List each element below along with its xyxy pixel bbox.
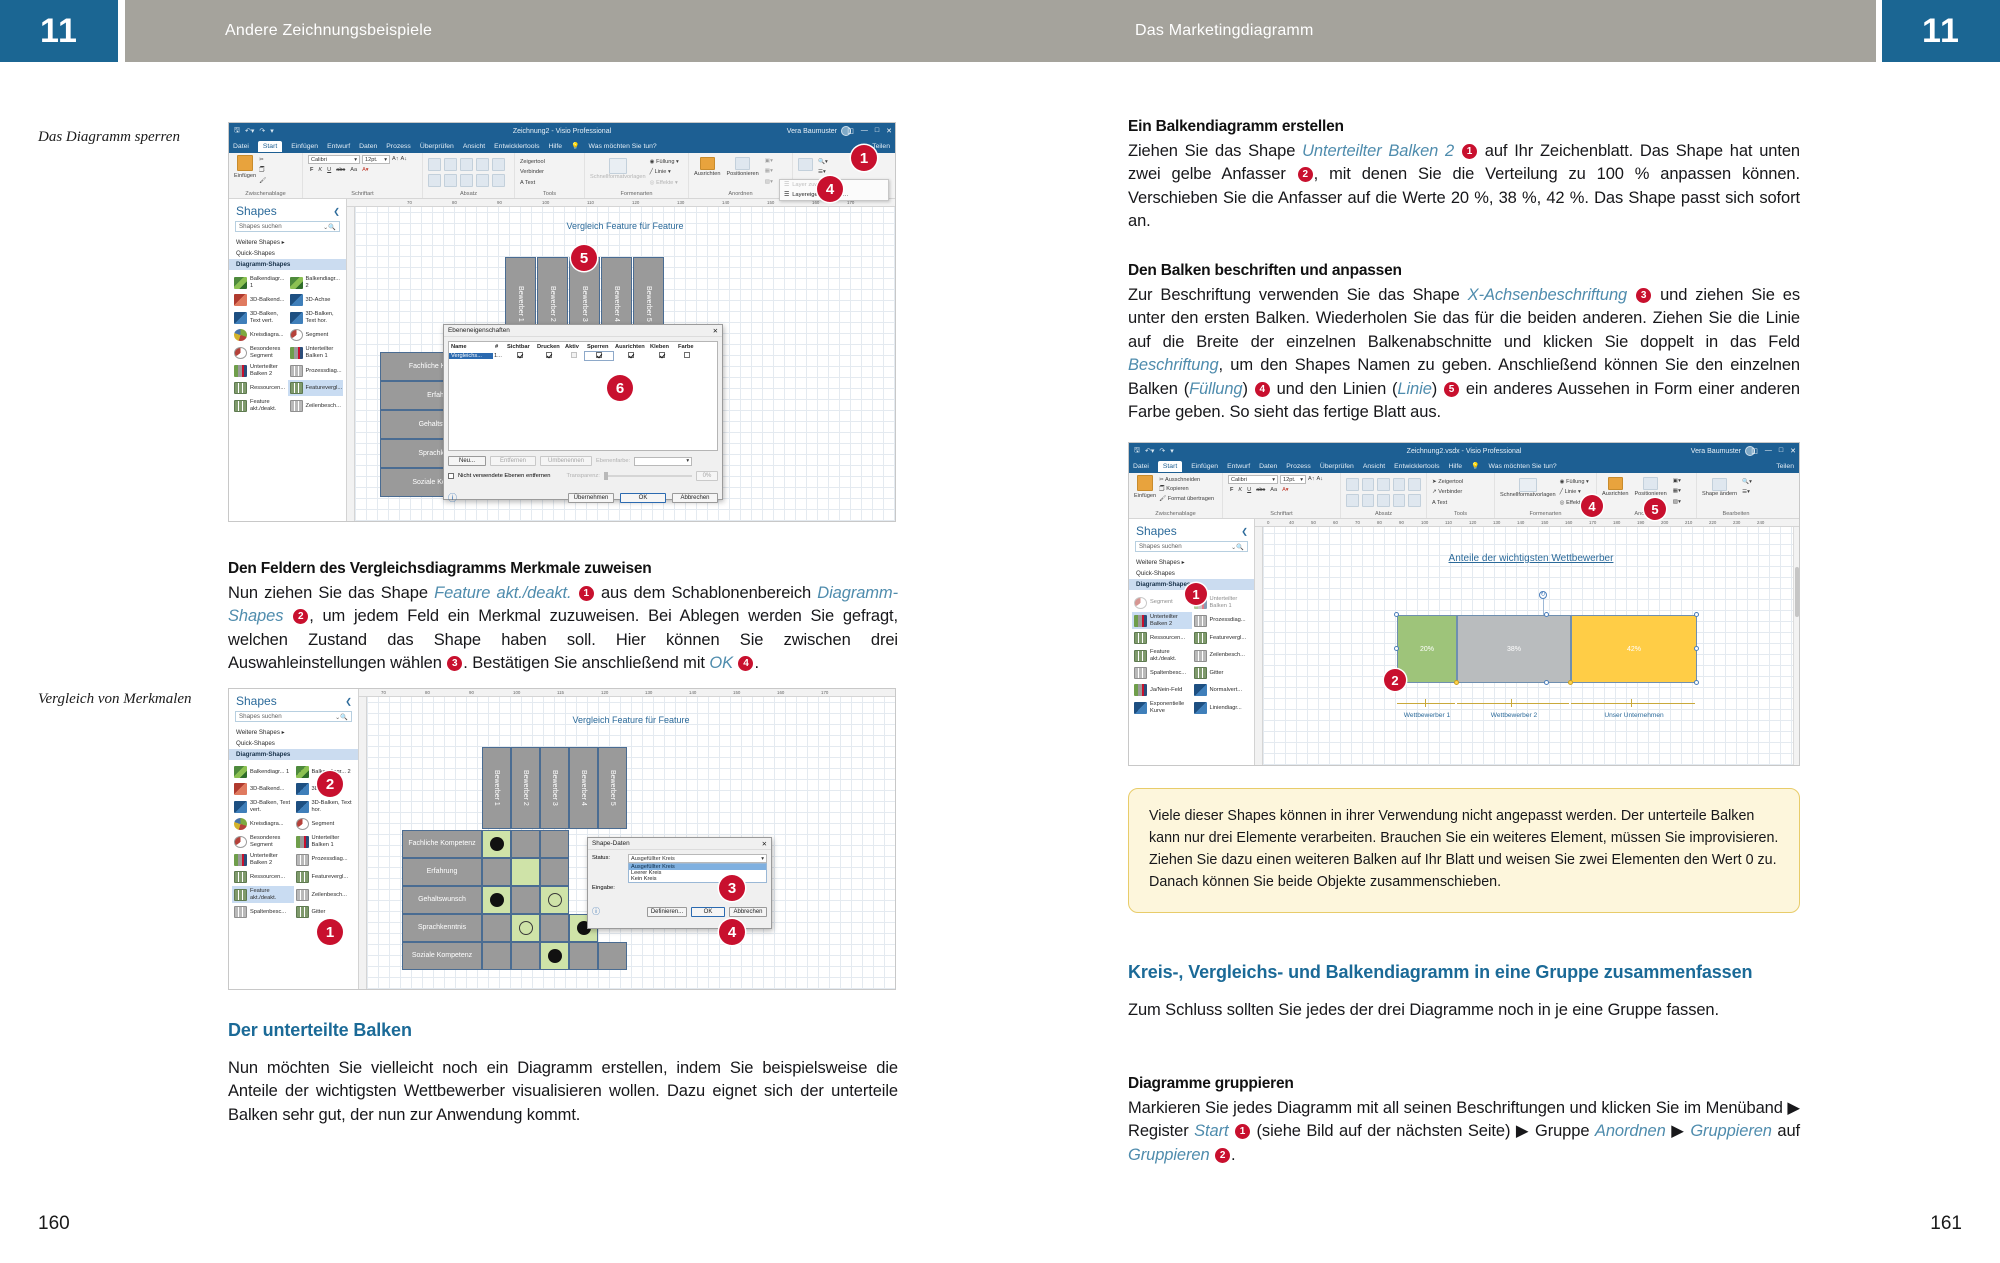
fill-button[interactable]: ◉ Füllung ▾ [1560, 478, 1589, 486]
page-number-left: 160 [38, 1213, 70, 1235]
close-icon[interactable]: ✕ [1790, 447, 1796, 455]
heading-label-bar: Den Balken beschriften und anpassen [1128, 262, 1800, 280]
matrix-cell[interactable] [569, 942, 598, 970]
selection-handle[interactable] [1394, 612, 1399, 617]
font-color-icon[interactable]: A▾ [1282, 486, 1289, 494]
bring-forward-icon[interactable]: ▦▾ [765, 167, 773, 175]
stencil-diagramm-shapes[interactable]: Diagramm-Shapes [229, 259, 346, 270]
decrease-font-icon[interactable]: A↓ [1317, 475, 1324, 483]
transparency-slider[interactable] [604, 475, 692, 477]
callout-badge-4: 4 [817, 176, 843, 202]
shape-item[interactable]: Liniendiagr... [1192, 699, 1252, 716]
layers-table[interactable]: Name # Sichtbar Drucken Aktiv Sperren Au… [448, 341, 718, 451]
text-tool-button[interactable]: A Text [520, 179, 579, 187]
shape-item[interactable]: 3D-Balken, Text hor. [288, 309, 344, 326]
shape-item[interactable]: Segment [288, 327, 344, 343]
align-right-icon[interactable] [1377, 478, 1390, 491]
ribbon-group-tools[interactable]: Zeigertool Verbinder A Text Tools [515, 153, 585, 198]
special-segment-icon [234, 836, 247, 848]
shape-item[interactable]: Ja/Nein-Feld [1132, 682, 1192, 698]
option-no-circle[interactable]: Kein Kreis [629, 876, 766, 882]
cut-button[interactable]: ✂ Ausschneiden [1159, 476, 1214, 484]
chevron-down-icon[interactable]: ▾ [354, 157, 357, 163]
ribbon-group-font[interactable]: Calibri▾ 12pt.▾ A↑ A↓ F K U abc Aa A▾ [303, 153, 423, 198]
shapes-grid[interactable]: Balkendiagr... 1 Balkendiagr... 2 3D-Bal… [229, 270, 346, 418]
tab-hilfe[interactable]: Hilfe [1448, 463, 1462, 470]
rename-layer-button[interactable]: Umbenennen [540, 456, 592, 466]
increase-indent-icon[interactable] [492, 174, 505, 187]
change-case-button[interactable]: Aa [350, 166, 357, 174]
ribbon[interactable]: Einfügen ✂ 🗍 🖌 Zwischenablage Calibri▾ 1… [229, 153, 895, 199]
matrix-col-header[interactable]: Bewerber 1 [482, 747, 511, 829]
find-icon[interactable]: 🔍▾ [818, 158, 828, 166]
ribbon-tabs-3[interactable]: Datei Start Einfügen Entwurf Daten Proze… [1129, 459, 1799, 473]
matrix-cell[interactable] [540, 858, 569, 886]
shape-item-feature-toggle[interactable]: Feature akt./deakt. [232, 886, 294, 903]
matrix-row-header[interactable]: Sprachkenntnis [402, 914, 482, 942]
transparency-value[interactable]: 0% [696, 471, 718, 481]
apply-button[interactable]: Übernehmen [568, 493, 614, 503]
matrix-cell[interactable] [540, 830, 569, 858]
align-top-icon[interactable] [1346, 494, 1359, 507]
bar-chart-2-icon [290, 277, 303, 289]
matrix-cell[interactable] [511, 858, 540, 886]
shape-item[interactable]: 3D-Balken, Text hor. [294, 798, 356, 815]
tab-hilfe[interactable]: Hilfe [548, 143, 562, 150]
shape-item[interactable]: Besonderes Segment [232, 344, 288, 361]
shape-item[interactable]: Zeilenbesch... [288, 397, 344, 414]
ok-button-2[interactable]: OK [691, 907, 725, 917]
right-section-create-bar: Ein Balkendiagramm erstellen Ziehen Sie … [1128, 118, 1800, 250]
layers-icon[interactable]: ☰▾ [1742, 488, 1752, 496]
yellow-control-handle[interactable] [1568, 680, 1573, 685]
drawing-canvas-2[interactable]: 7080 90100 115120 130140 150160 170 Verg… [359, 689, 895, 989]
bar-segment-3[interactable]: 42% [1571, 615, 1697, 683]
fill-button[interactable]: ◉ Füllung ▾ [650, 158, 679, 166]
align-shapes-icon[interactable] [700, 157, 715, 170]
define-button[interactable]: Definieren... [647, 907, 687, 917]
text-tool-button[interactable]: A Text [1432, 499, 1489, 507]
shapes-search-input-3[interactable]: Shapes suchen ⌄🔍 [1135, 541, 1248, 552]
increase-indent-icon[interactable] [1408, 494, 1421, 507]
ribbon-display-icon[interactable]: ◫ [1751, 447, 1758, 455]
matrix-cell[interactable] [598, 942, 627, 970]
align-bottom-icon[interactable] [1377, 494, 1390, 507]
align-top-icon[interactable] [428, 174, 441, 187]
strikethrough-button[interactable]: abc [1256, 486, 1265, 494]
checkbox-glue[interactable] [659, 352, 665, 358]
drawing-canvas[interactable]: 7080 90100 110120 130140 150160 170 Verg… [347, 199, 895, 521]
help-icon[interactable]: ⓘ [592, 906, 600, 917]
collapse-panel-icon[interactable]: ❮ [1241, 527, 1248, 536]
shape-item-divided-bar-2[interactable]: Unterteilter Balken 2 [1132, 612, 1192, 629]
bold-button[interactable]: F [1230, 486, 1233, 494]
col-visible: Sichtbar [507, 344, 537, 350]
collapse-panel-icon[interactable]: ❮ [345, 697, 352, 706]
format-painter-icon[interactable]: 🖌 [259, 177, 266, 185]
resources-icon [234, 382, 247, 394]
tab-einfuegen[interactable]: Einfügen [291, 143, 318, 150]
tab-start[interactable]: Start [258, 141, 282, 152]
tab-datei[interactable]: Datei [1133, 463, 1149, 470]
shape-item[interactable]: Prozessdiag... [294, 851, 356, 868]
rotation-handle[interactable]: ↻ [1539, 591, 1547, 599]
dialog-title: Ebeneneigenschaften [448, 327, 510, 334]
shape-item-feature-toggle[interactable]: Feature akt./deakt. [232, 397, 288, 414]
checkbox-active[interactable] [571, 352, 577, 358]
cancel-button-2[interactable]: Abbrechen [729, 907, 767, 917]
selection-handle[interactable] [1544, 612, 1549, 617]
pointer-tool-button[interactable]: Zeigertool [520, 158, 579, 166]
shapes-panel-3[interactable]: Shapes ❮ Shapes suchen ⌄🔍 Weitere Shapes… [1129, 519, 1255, 765]
quick-shapes-item[interactable]: Quick-Shapes [229, 248, 346, 259]
close-icon[interactable]: ✕ [713, 327, 718, 335]
ribbon-group-paragraph[interactable]: Absatz [423, 153, 515, 198]
italic-button[interactable]: K [318, 166, 322, 174]
font-size-select-3[interactable]: 12pt.▾ [1280, 475, 1306, 484]
feature-toggle-icon [234, 400, 247, 412]
ribbon-group-clipboard-3[interactable]: Einfügen ✂ Ausschneiden 🗍 Kopieren 🖌 For… [1129, 473, 1223, 518]
matrix-col-header[interactable]: Bewerber 3 [540, 747, 569, 829]
shape-item[interactable]: Spaltenbesc... [232, 904, 294, 920]
matrix-row-header[interactable]: Gehaltswunsch [402, 886, 482, 914]
selection-handle[interactable] [1394, 646, 1399, 651]
shape-item-feature-comparison[interactable]: Featurevergl... [288, 380, 344, 396]
bring-forward-icon[interactable]: ▦▾ [1673, 487, 1681, 495]
minimize-icon[interactable]: — [1765, 447, 1772, 455]
stencil-diagramm-shapes-2[interactable]: Diagramm-Shapes [229, 749, 358, 760]
group-label-edit-3: Bearbeiten [1702, 511, 1770, 518]
shape-item[interactable]: Segment [1132, 594, 1192, 611]
checkbox-visible[interactable] [517, 352, 523, 358]
align-right-icon[interactable] [460, 158, 473, 171]
vertical-scrollbar[interactable] [1793, 527, 1799, 765]
feature-comparison-icon [290, 382, 303, 394]
shape-item[interactable]: Normalvert... [1192, 682, 1252, 698]
bar-segment-1[interactable]: 20% [1397, 615, 1457, 683]
shape-item[interactable]: Ressourcen... [232, 869, 294, 885]
ribbon-3[interactable]: Einfügen ✂ Ausschneiden 🗍 Kopieren 🖌 For… [1129, 473, 1799, 519]
matrix-cell[interactable] [511, 942, 540, 970]
checkbox-color[interactable] [684, 352, 690, 358]
tab-daten[interactable]: Daten [1259, 463, 1277, 470]
decrease-font-icon[interactable]: A↓ [401, 155, 408, 163]
shape-item[interactable]: Kreisdiagra... [232, 327, 288, 343]
tab-entwurf[interactable]: Entwurf [327, 143, 350, 150]
ribbon-display-icon[interactable]: ◫ [847, 127, 854, 135]
stacked-bar-shape[interactable]: 20% 38% 42% [1397, 615, 1697, 683]
remove-layer-button[interactable]: Entfernen [490, 456, 536, 466]
bar-segment-2[interactable]: 38% [1457, 615, 1571, 683]
tab-prozess[interactable]: Prozess [386, 143, 411, 150]
ribbon-group-clipboard[interactable]: Einfügen ✂ 🗍 🖌 Zwischenablage [229, 153, 303, 198]
shapes-panel-2[interactable]: Shapes ❮ Shapes suchen ⌄🔍 Weitere Shapes… [229, 689, 359, 989]
align-center-icon[interactable] [1362, 478, 1375, 491]
window-buttons[interactable]: ◫ — □ ✕ [847, 127, 892, 135]
margin-note-compare-features: Vergleich von Merkmalen [38, 690, 223, 710]
strikethrough-button[interactable]: abc [336, 166, 345, 174]
shapes-panel-header-3: Shapes ❮ [1129, 519, 1254, 541]
bar-value-label-1: 20% [1420, 646, 1434, 653]
ribbon-group-tools-3[interactable]: ➤ Zeigertool ↗ Verbinder A Text Tools [1427, 473, 1495, 518]
align-center-icon[interactable] [444, 158, 457, 171]
dialog-footer-2[interactable]: ⓘ Definieren... OK Abbrechen [592, 906, 767, 917]
tab-ueberpruefen[interactable]: Überprüfen [1320, 463, 1354, 470]
matrix-row-header[interactable]: Erfahrung [402, 858, 482, 886]
status-select[interactable]: Ausgefüllter Kreis ▾ [628, 854, 767, 863]
align-left-icon[interactable] [428, 158, 441, 171]
tell-me-box[interactable]: Was möchten Sie tun? [589, 143, 657, 150]
shape-item[interactable]: Segment [294, 816, 356, 832]
tab-entwicklertools[interactable]: Entwicklertools [1394, 463, 1439, 470]
col-color: Farbe [678, 344, 700, 350]
shape-item[interactable]: 3D-Balken, Text vert. [232, 798, 294, 815]
checkbox-print[interactable] [546, 352, 552, 358]
minimize-icon[interactable]: — [861, 127, 868, 135]
tab-datei[interactable]: Datei [233, 143, 249, 150]
matrix-cell[interactable] [511, 886, 540, 914]
share-button[interactable]: Teilen [1776, 463, 1794, 470]
connector-tool-button[interactable]: ↗ Verbinder [1432, 488, 1489, 496]
font-family-select[interactable]: Calibri▾ [308, 155, 360, 164]
layer-properties-dialog[interactable]: Ebeneneigenschaften ✕ Name # Sichtbar Dr… [443, 324, 723, 500]
matrix-cell[interactable] [540, 914, 569, 942]
special-segment-icon [234, 347, 247, 359]
ribbon-tabs[interactable]: Datei Start Einfügen Entwurf Daten Proze… [229, 139, 895, 153]
shape-item[interactable]: 3D-Balkend... [232, 781, 294, 797]
screenshot-visio-layer-properties: 🖫 ↶▾ ↷ ▾ Zeichnung2 - Visio Professional… [228, 122, 896, 522]
tab-entwicklertools[interactable]: Entwicklertools [494, 143, 539, 150]
ribbon-group-paragraph-3[interactable]: Absatz [1341, 473, 1427, 518]
shape-item[interactable]: Unterteilter Balken 2 [232, 851, 294, 868]
tab-daten[interactable]: Daten [359, 143, 377, 150]
dialog-options-row[interactable]: Nicht verwendete Ebenen entfernen Transp… [448, 471, 718, 481]
selection-handle[interactable] [1694, 646, 1699, 651]
bar-value-label-3: 42% [1627, 646, 1641, 653]
chevron-down-icon[interactable]: ▾ [1272, 477, 1275, 483]
share-button[interactable]: Teilen [872, 143, 890, 150]
maximize-icon[interactable]: □ [1779, 447, 1783, 455]
more-shapes-item-2[interactable]: Weitere Shapes ▸ [229, 727, 358, 738]
shape-item[interactable]: Gitter [294, 904, 356, 920]
shape-item[interactable]: Kreisdiagra... [232, 816, 294, 832]
dialog-title-bar: Ebeneneigenschaften ✕ [444, 325, 722, 337]
pointer-tool-button[interactable]: ➤ Zeigertool [1432, 478, 1489, 486]
line-button[interactable]: ╱ Linie ▾ [1560, 488, 1589, 496]
axis-label-1[interactable]: Wettbewerber 1 [1397, 712, 1457, 719]
matrix-col-header[interactable]: Bewerber 4 [569, 747, 598, 829]
line-button[interactable]: ╱ Linie ▾ [650, 168, 679, 176]
shape-item[interactable]: Feature akt./deakt. [1132, 647, 1192, 664]
copy-icon[interactable]: 🗍 [259, 166, 266, 174]
matrix-cell[interactable] [482, 858, 511, 886]
tell-me-box[interactable]: Was möchten Sie tun? [1489, 463, 1557, 470]
tab-prozess[interactable]: Prozess [1286, 463, 1311, 470]
decrease-indent-icon[interactable] [476, 174, 489, 187]
dialog-footer[interactable]: ⓘ Übernehmen OK Abbrechen [448, 491, 718, 504]
cancel-button[interactable]: Abbrechen [672, 493, 718, 503]
shape-item[interactable]: Zeilenbesch... [1192, 647, 1252, 664]
selection-handle[interactable] [1694, 680, 1699, 685]
shape-item[interactable]: Ressourcen... [232, 380, 288, 396]
matrix-row-header[interactable]: Fachliche Kompetenz [402, 830, 482, 858]
axis-label-3[interactable]: Unser Unternehmen [1571, 712, 1697, 719]
checkbox-remove-unused-layers[interactable] [448, 473, 454, 479]
shapes-search-input-2[interactable]: Shapes suchen ⌄🔍 [235, 711, 352, 722]
matrix-row-header[interactable]: Soziale Kompetenz [402, 942, 482, 970]
tab-start[interactable]: Start [1158, 461, 1182, 472]
dialog-action-row[interactable]: Neu... Entfernen Umbenennen Ebenenfarbe:… [448, 456, 718, 466]
italic-button[interactable]: K [1238, 486, 1242, 494]
decrease-indent-icon[interactable] [1393, 494, 1406, 507]
more-shapes-item-3[interactable]: Weitere Shapes ▸ [1129, 557, 1254, 568]
send-backward-icon[interactable]: ▧▾ [1673, 498, 1681, 506]
lightbulb-icon[interactable]: 💡 [1471, 462, 1479, 470]
matrix-cell[interactable] [511, 830, 540, 858]
shape-item[interactable]: Prozessdiag... [1192, 612, 1252, 629]
tab-ansicht[interactable]: Ansicht [1363, 463, 1385, 470]
close-icon[interactable]: ✕ [762, 840, 767, 848]
quick-shapes-item-3[interactable]: Quick-Shapes [1129, 568, 1254, 579]
chevron-down-icon[interactable]: ▾ [384, 157, 387, 163]
tab-entwurf[interactable]: Entwurf [1227, 463, 1250, 470]
find-icon[interactable]: 🔍▾ [1742, 478, 1752, 486]
align-middle-icon[interactable] [444, 174, 457, 187]
format-painter-button[interactable]: 🖌 Format übertragen [1159, 495, 1214, 503]
bold-button[interactable]: F [310, 166, 313, 174]
matrix-col-header[interactable]: Bewerber 2 [511, 747, 540, 829]
change-shape-icon[interactable] [1712, 478, 1727, 491]
shape-item[interactable]: Zeilenbesch... [294, 886, 356, 903]
ribbon-group-font-3[interactable]: Calibri▾ 12pt.▾ A↑ A↓ F K U abc Aa A▾ [1223, 473, 1341, 518]
effects-button[interactable]: ◎ Effekte ▾ [650, 179, 679, 187]
ok-button[interactable]: OK [620, 493, 666, 503]
search-icon[interactable]: ⌄🔍 [1231, 543, 1244, 551]
shape-item[interactable]: Balkendiagr... 1 [232, 274, 288, 291]
running-head-left: Andere Zeichnungsbeispiele [225, 22, 432, 40]
copy-button[interactable]: 🗍 Kopieren [1159, 485, 1214, 493]
group-icon[interactable]: ▣▾ [1673, 477, 1681, 485]
text-style-icon[interactable] [1408, 478, 1421, 491]
shape-item[interactable]: Balkendiagr... 2 [288, 274, 344, 291]
status-options-list[interactable]: Ausgefüllter Kreis Leerer Kreis Kein Kre… [628, 863, 767, 883]
change-shape-icon[interactable] [798, 158, 813, 171]
chevron-down-icon[interactable]: ▾ [761, 856, 764, 862]
underline-button[interactable]: U [1247, 486, 1251, 494]
shape-item[interactable]: Balkendiagr... 1 [232, 764, 294, 780]
shape-item[interactable]: Unterteilter Balken 1 [294, 833, 356, 850]
shape-item[interactable]: Besonderes Segment [232, 833, 294, 850]
font-size-select[interactable]: 12pt.▾ [362, 155, 390, 164]
checkbox-align[interactable] [628, 352, 634, 358]
matrix-cell[interactable] [482, 942, 511, 970]
shape-item[interactable]: Unterteilter Balken 2 [232, 362, 288, 379]
help-icon[interactable]: ⓘ [448, 491, 457, 504]
quick-styles-icon[interactable] [609, 158, 627, 174]
position-shapes-icon[interactable] [1643, 477, 1658, 490]
shapes-search-input[interactable]: Shapes suchen ⌄🔍 [235, 221, 340, 232]
matrix-cell[interactable] [482, 914, 511, 942]
table-row[interactable]: Vergleichs... 1... [449, 352, 717, 360]
tab-ueberpruefen[interactable]: Überprüfen [420, 143, 454, 150]
lightbulb-icon[interactable]: 💡 [571, 142, 579, 150]
quick-styles-icon[interactable] [1519, 478, 1537, 492]
ribbon-group-shapestyles[interactable]: Schnellformatvorlagen ◉ Füllung ▾ ╱ Lini… [585, 153, 689, 198]
ribbon-group-edit-3[interactable]: Shape ändern 🔍▾ ☰▾ Bearbeiten [1697, 473, 1775, 518]
collapse-panel-icon[interactable]: ❮ [333, 207, 340, 216]
shape-item[interactable]: Spaltenbesc... [1132, 665, 1192, 681]
send-backward-icon[interactable]: ▧▾ [765, 178, 773, 186]
increase-font-icon[interactable]: A↑ [1308, 475, 1315, 483]
text-style-icon[interactable] [492, 158, 505, 171]
yellow-control-handle[interactable] [1454, 680, 1459, 685]
align-left-icon[interactable] [1346, 478, 1359, 491]
checkbox-lock[interactable] [596, 352, 602, 358]
change-case-button[interactable]: Aa [1270, 486, 1277, 494]
paste-icon[interactable] [237, 155, 253, 171]
shape-item[interactable]: Featurevergl... [1192, 630, 1252, 646]
search-icon[interactable]: ⌄🔍 [323, 223, 336, 231]
align-shapes-icon[interactable] [1608, 477, 1623, 490]
drawing-page-3[interactable]: Anteile der wichtigsten Wettbewerber ↻ 2… [1263, 527, 1799, 765]
shape-item[interactable]: Gitter [1192, 665, 1252, 681]
shapes-grid-3[interactable]: Segment Unterteilter Balken 1 Unterteilt… [1129, 590, 1254, 720]
quick-shapes-item-2[interactable]: Quick-Shapes [229, 738, 358, 749]
selection-handle[interactable] [1544, 680, 1549, 685]
shape-item[interactable]: 3D-Achse [288, 292, 344, 308]
group-icon[interactable]: ▣▾ [765, 157, 773, 165]
new-layer-button[interactable]: Neu... [448, 456, 486, 466]
shapes-panel[interactable]: Shapes ❮ Shapes suchen ⌄🔍 Weitere Shapes… [229, 199, 347, 521]
layer-name-cell[interactable]: Vergleichs... [449, 353, 493, 359]
font-color-icon[interactable]: A▾ [362, 166, 369, 174]
tab-ansicht[interactable]: Ansicht [463, 143, 485, 150]
align-bottom-icon[interactable] [460, 174, 473, 187]
shape-item[interactable]: 3D-Balken, Text vert. [232, 309, 288, 326]
matrix-col-header[interactable]: Bewerber 5 [598, 747, 627, 829]
chevron-down-icon[interactable]: ▾ [1300, 477, 1303, 483]
underline-button[interactable]: U [327, 166, 331, 174]
increase-font-icon[interactable]: A↑ [392, 155, 399, 163]
window-buttons-3[interactable]: ◫ — □ ✕ [1751, 447, 1796, 455]
connector-tool-button[interactable]: Verbinder [520, 168, 579, 176]
position-shapes-icon[interactable] [735, 157, 750, 170]
paste-icon[interactable] [1137, 475, 1153, 491]
font-family-select-3[interactable]: Calibri▾ [1228, 475, 1278, 484]
chevron-down-icon[interactable]: ▾ [686, 458, 689, 464]
shape-item[interactable]: Exponentielle Kurve [1132, 699, 1192, 716]
bullet-list-icon[interactable] [1393, 478, 1406, 491]
bullet-list-icon[interactable] [476, 158, 489, 171]
drawing-canvas-3[interactable]: 040 5060 7080 90100 110120 130140 150160… [1255, 519, 1799, 765]
selection-handle[interactable] [1694, 612, 1699, 617]
shape-item[interactable]: Ressourcen... [1132, 630, 1192, 646]
ribbon-group-arrange[interactable]: Ausrichten Positionieren ▣▾ ▦▾ ▧▾ Anordn… [689, 153, 793, 198]
tab-einfuegen[interactable]: Einfügen [1191, 463, 1218, 470]
close-icon[interactable]: ✕ [886, 127, 892, 135]
shape-item[interactable]: Featurevergl... [294, 869, 356, 885]
more-shapes-item[interactable]: Weitere Shapes ▸ [229, 237, 346, 248]
shape-item[interactable]: Unterteilter Balken 1 [288, 344, 344, 361]
maximize-icon[interactable]: □ [875, 127, 879, 135]
align-middle-icon[interactable] [1362, 494, 1375, 507]
cut-icon[interactable]: ✂ [259, 156, 266, 164]
search-icon[interactable]: ⌄🔍 [335, 713, 348, 721]
layer-color-select[interactable]: ▾ [634, 457, 692, 466]
axis-label-2[interactable]: Wettbewerber 2 [1457, 712, 1571, 719]
shape-item[interactable]: Prozessdiag... [288, 362, 344, 379]
shape-item[interactable]: 3D-Balkend... [232, 292, 288, 308]
